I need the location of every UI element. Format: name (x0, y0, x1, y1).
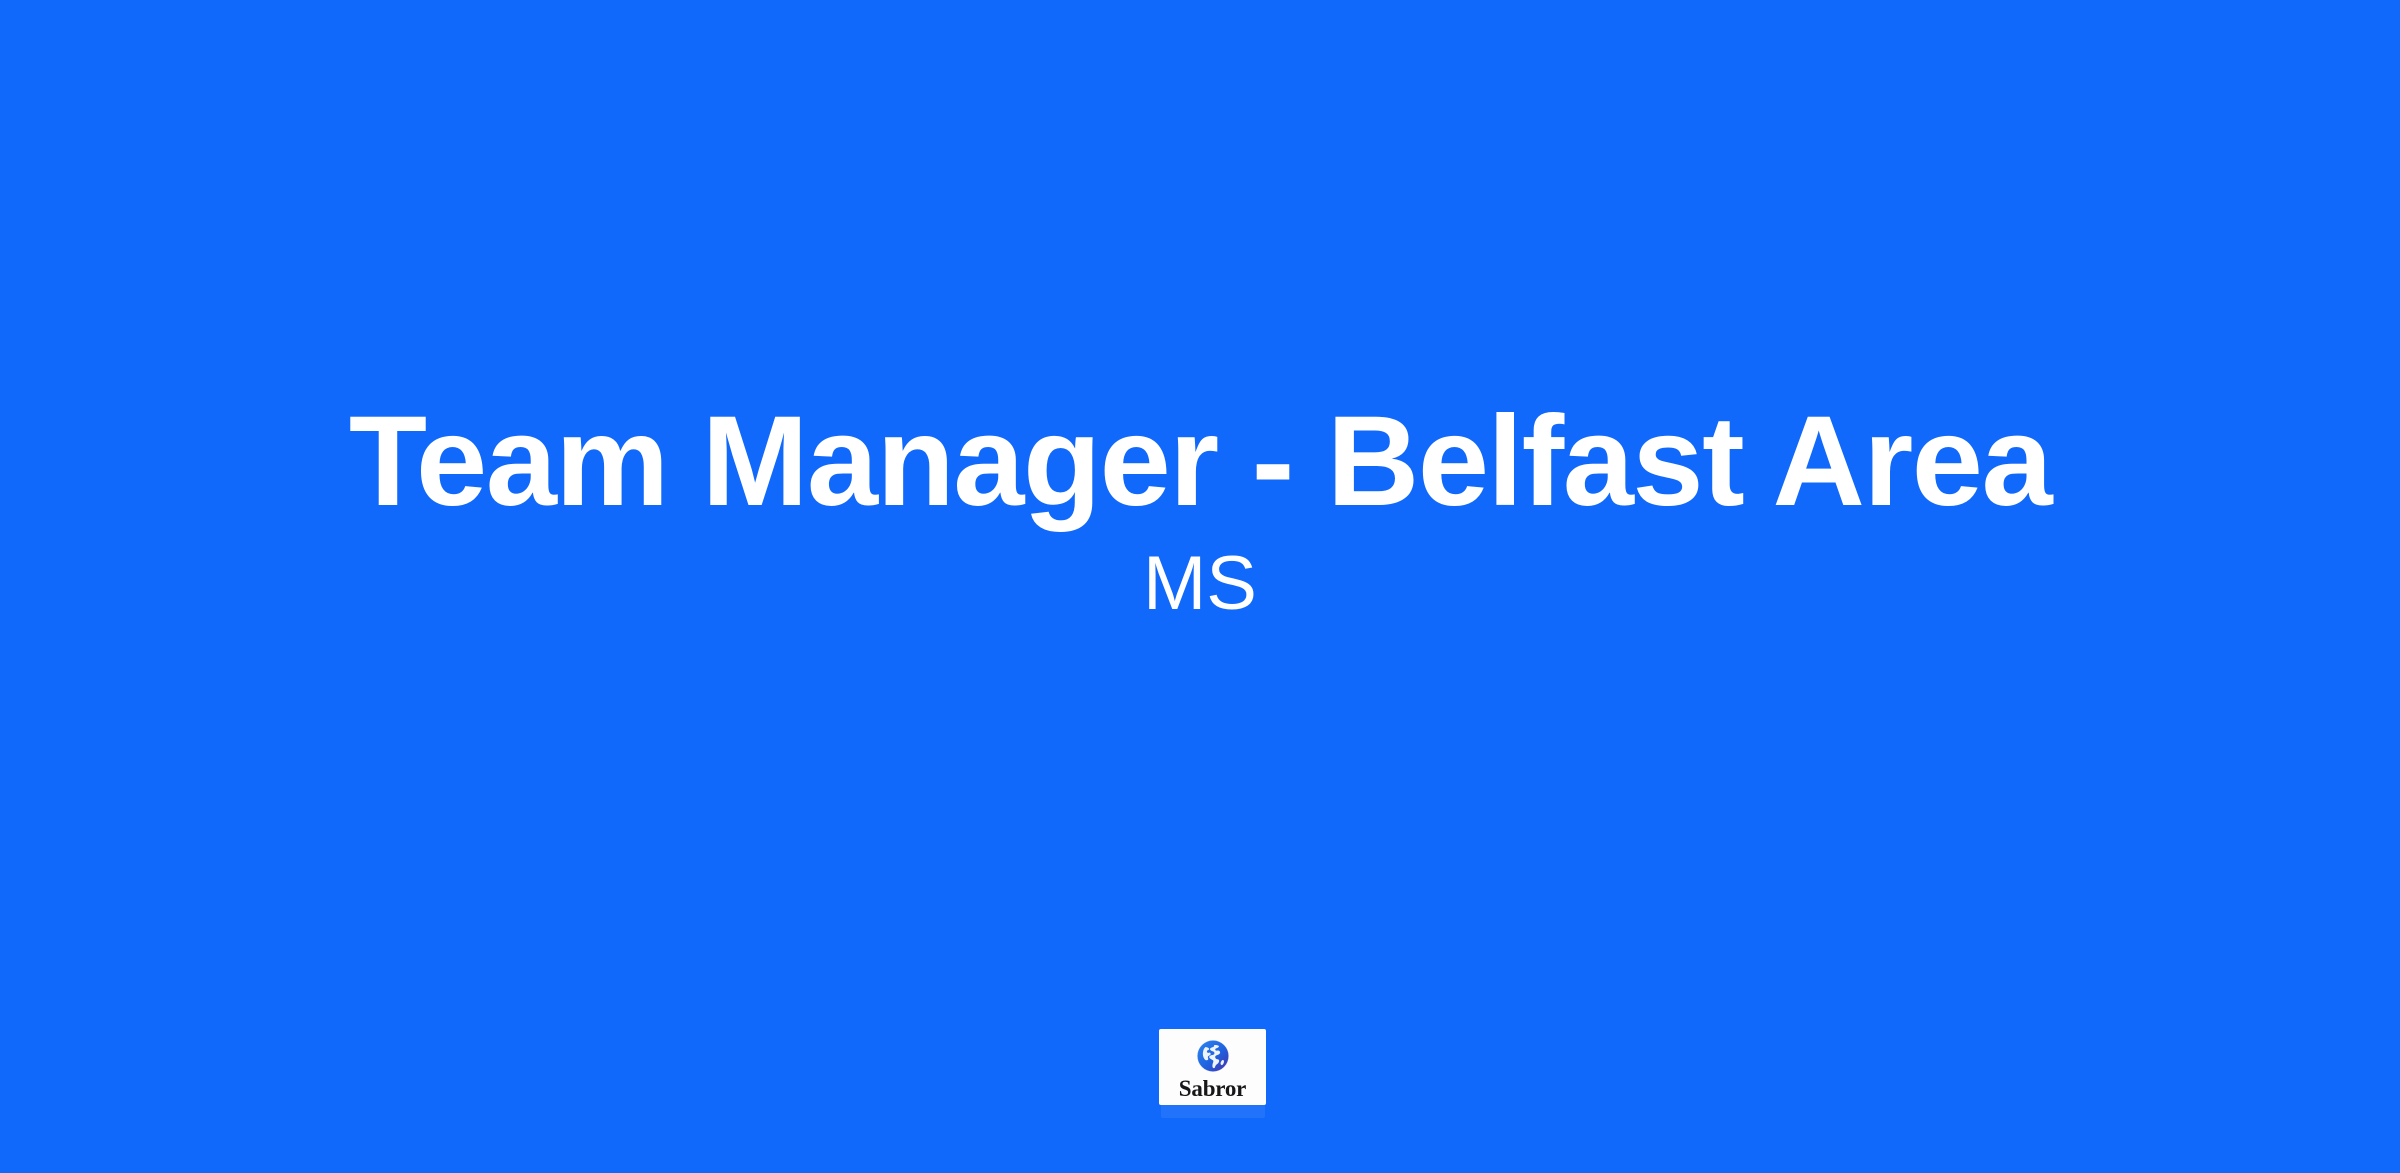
hero-text-block: Team Manager - Belfast Area MS (0, 0, 2400, 1173)
brand-card-shadow (1161, 1104, 1265, 1118)
globe-icon (1193, 1036, 1233, 1076)
slide-canvas: Team Manager - Belfast Area MS (0, 0, 2400, 1173)
page-title: Team Manager - Belfast Area (200, 398, 2200, 526)
brand-logo: Sabror (1159, 1029, 1266, 1105)
brand-name-label: Sabror (1179, 1076, 1246, 1100)
page-subtitle: MS (1143, 526, 1257, 622)
